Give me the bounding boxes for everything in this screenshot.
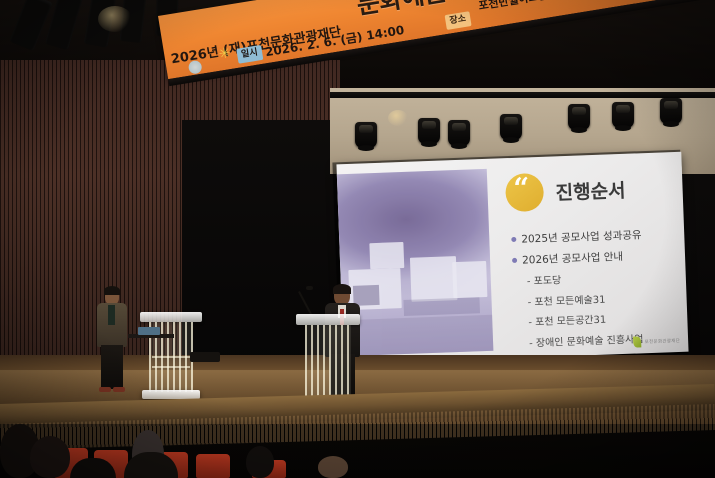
podium-top <box>140 312 202 322</box>
stage-light <box>418 118 440 144</box>
photo-building <box>369 242 404 269</box>
quote-badge: “ <box>505 173 544 212</box>
podium-legs <box>305 325 351 401</box>
podium-top <box>296 314 360 325</box>
stage-light <box>500 114 522 140</box>
staff-trousers <box>101 345 123 389</box>
stage-light <box>448 120 470 146</box>
bullet-icon <box>511 237 516 242</box>
audience-head <box>246 446 274 478</box>
list-item: 2025년 공모사업 성과공유 <box>511 226 683 247</box>
banner-date-chip: 일시 <box>236 45 263 64</box>
speaker-hair <box>333 284 351 294</box>
list-item-text: - 포천 모든예술31 <box>527 290 605 308</box>
list-item-text: - 포도당 <box>527 271 562 287</box>
stage-light <box>612 102 634 128</box>
list-item: - 포천 모든예술31 <box>527 287 685 308</box>
microphone-head <box>306 286 313 290</box>
stage-light <box>568 104 590 130</box>
staff-standing <box>96 288 128 396</box>
banner-place-chip: 장소 <box>445 11 472 30</box>
slide-heading: 진행순서 <box>555 176 626 206</box>
list-item-text: - 장애인 문화예술 진흥사업 <box>529 330 644 349</box>
audience-head <box>318 456 348 478</box>
stage-light-glow <box>388 110 408 126</box>
pocheon-city-logo: 포천시 <box>558 0 602 2</box>
flower-icon: ✳ <box>218 45 232 63</box>
photo-building <box>410 256 458 302</box>
podium-brace <box>152 366 190 368</box>
floor-cable-box <box>190 352 220 362</box>
photo-shadow <box>403 297 480 316</box>
photo-building <box>452 261 487 298</box>
staff-shoe <box>113 387 125 392</box>
staff-shoe <box>99 387 111 392</box>
leaf-icon <box>633 336 641 347</box>
quote-icon: “ <box>513 171 530 205</box>
audience-seat <box>196 454 230 478</box>
slide-logo-text: 포천문화관광재단 <box>645 337 681 344</box>
photo-foreground <box>342 315 493 356</box>
list-item: - 포천 모든공간31 <box>528 308 686 329</box>
list-item-text: 2025년 공모사업 성과공유 <box>521 227 642 246</box>
photo-scene: 문화예술 공모지원사업 통합설명회 2026년 (재)포천문화관광재단 일시 2… <box>0 0 715 478</box>
list-item-text: 2026년 공모사업 안내 <box>522 248 624 267</box>
list-item: - 포도당 <box>527 267 685 288</box>
slide-footer-logo: 포천문화관광재단 <box>633 335 680 348</box>
bullet-icon <box>512 257 517 262</box>
staff-shirt <box>108 305 115 325</box>
laptop <box>138 327 160 335</box>
stage-light <box>660 98 682 124</box>
podium-brace <box>152 356 190 358</box>
list-item: 2026년 공모사업 안내 <box>512 246 684 267</box>
ceiling-spot-glow <box>98 6 132 32</box>
list-item-text: - 포천 모든공간31 <box>528 311 606 329</box>
staff-hair <box>104 286 120 295</box>
audience-head <box>30 436 70 478</box>
projection-screen: “ 진행순서 2025년 공모사업 성과공유 2026년 공모사업 안내 - 포… <box>336 152 688 365</box>
banner-place-value: 포천반월아트홀 소극장 <box>477 0 583 14</box>
stage-light <box>355 122 377 148</box>
